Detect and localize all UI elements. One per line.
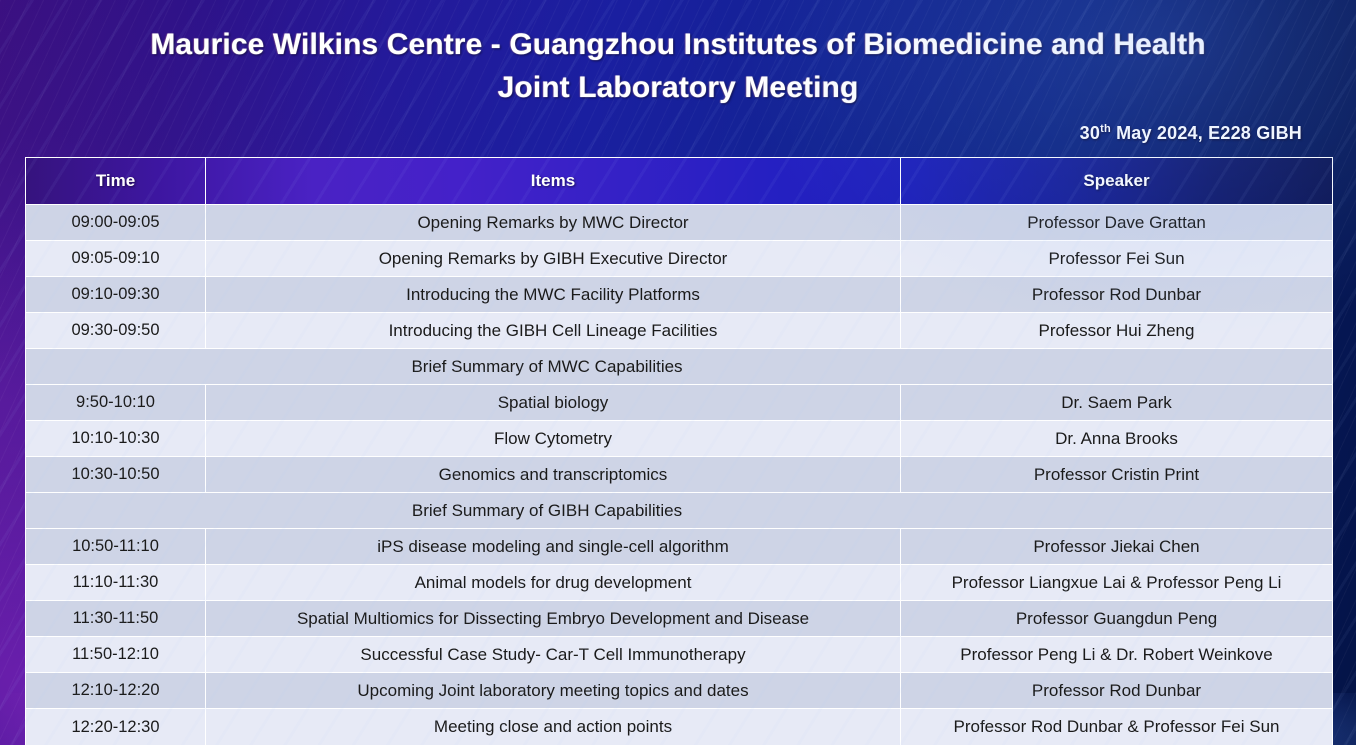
agenda-cell-time: 09:05-09:10	[26, 241, 206, 277]
header-row: Time Items Speaker	[26, 158, 1332, 205]
agenda-cell-speaker: Professor Liangxue Lai & Professor Peng …	[901, 565, 1332, 601]
agenda-cell-time: 09:00-09:05	[26, 205, 206, 241]
agenda-section-label: Brief Summary of MWC Capabilities	[411, 357, 682, 377]
agenda-cell-time: 9:50-10:10	[26, 385, 206, 421]
agenda-row: 11:10-11:30Animal models for drug develo…	[26, 565, 1332, 601]
agenda-row: 9:50-10:10Spatial biologyDr. Saem Park	[26, 385, 1332, 421]
agenda-cell-speaker: Dr. Anna Brooks	[901, 421, 1332, 457]
agenda-cell-items: Introducing the MWC Facility Platforms	[206, 277, 901, 313]
agenda-cell-items: Successful Case Study- Car-T Cell Immuno…	[206, 637, 901, 673]
agenda-row: 10:10-10:30Flow CytometryDr. Anna Brooks	[26, 421, 1332, 457]
agenda-cell-speaker: Professor Guangdun Peng	[901, 601, 1332, 637]
agenda-cell-speaker: Professor Dave Grattan	[901, 205, 1332, 241]
agenda-row: 10:30-10:50Genomics and transcriptomicsP…	[26, 457, 1332, 493]
agenda-cell-speaker: Professor Jiekai Chen	[901, 529, 1332, 565]
date-rest: May 2024, E228 GIBH	[1111, 123, 1302, 143]
slide-header: Maurice Wilkins Centre - Guangzhou Insti…	[0, 0, 1356, 144]
agenda-section-label-cell: Brief Summary of MWC Capabilities	[26, 349, 1332, 385]
agenda-row: 09:00-09:05Opening Remarks by MWC Direct…	[26, 205, 1332, 241]
agenda-cell-speaker: Professor Rod Dunbar & Professor Fei Sun	[901, 709, 1332, 745]
agenda-section-row: Brief Summary of GIBH Capabilities	[26, 493, 1332, 529]
presentation-slide: Maurice Wilkins Centre - Guangzhou Insti…	[0, 0, 1356, 745]
agenda-cell-items: Animal models for drug development	[206, 565, 901, 601]
agenda-cell-items: Opening Remarks by MWC Director	[206, 205, 901, 241]
agenda-cell-speaker: Professor Rod Dunbar	[901, 673, 1332, 709]
agenda-row: 12:10-12:20Upcoming Joint laboratory mee…	[26, 673, 1332, 709]
agenda-row: 11:30-11:50Spatial Multiomics for Dissec…	[26, 601, 1332, 637]
agenda-row: 09:10-09:30Introducing the MWC Facility …	[26, 277, 1332, 313]
column-header-speaker: Speaker	[901, 158, 1332, 205]
agenda-row: 09:05-09:10Opening Remarks by GIBH Execu…	[26, 241, 1332, 277]
agenda-section-label-cell: Brief Summary of GIBH Capabilities	[26, 493, 1332, 529]
agenda-cell-time: 09:10-09:30	[26, 277, 206, 313]
agenda-cell-items: Opening Remarks by GIBH Executive Direct…	[206, 241, 901, 277]
date-day: 30	[1080, 123, 1100, 143]
agenda-cell-time: 12:20-12:30	[26, 709, 206, 745]
agenda-cell-time: 11:30-11:50	[26, 601, 206, 637]
agenda-row: 11:50-12:10Successful Case Study- Car-T …	[26, 637, 1332, 673]
agenda-cell-items: Meeting close and action points	[206, 709, 901, 745]
agenda-cell-speaker: Dr. Saem Park	[901, 385, 1332, 421]
agenda-cell-time: 11:10-11:30	[26, 565, 206, 601]
agenda-cell-speaker: Professor Rod Dunbar	[901, 277, 1332, 313]
slide-title: Maurice Wilkins Centre - Guangzhou Insti…	[28, 24, 1328, 109]
agenda-table: Time Items Speaker 09:00-09:05Opening Re…	[25, 157, 1333, 745]
agenda-table-container: Time Items Speaker 09:00-09:05Opening Re…	[25, 157, 1331, 745]
agenda-row: 12:20-12:30Meeting close and action poin…	[26, 709, 1332, 745]
agenda-section-row: Brief Summary of MWC Capabilities	[26, 349, 1332, 385]
agenda-table-header: Time Items Speaker	[26, 158, 1332, 205]
agenda-cell-items: iPS disease modeling and single-cell alg…	[206, 529, 901, 565]
agenda-row: 10:50-11:10iPS disease modeling and sing…	[26, 529, 1332, 565]
agenda-cell-speaker: Professor Peng Li & Dr. Robert Weinkove	[901, 637, 1332, 673]
agenda-cell-speaker: Professor Cristin Print	[901, 457, 1332, 493]
column-header-items: Items	[206, 158, 901, 205]
agenda-cell-time: 10:10-10:30	[26, 421, 206, 457]
agenda-cell-items: Upcoming Joint laboratory meeting topics…	[206, 673, 901, 709]
agenda-cell-time: 10:50-11:10	[26, 529, 206, 565]
agenda-cell-speaker: Professor Hui Zheng	[901, 313, 1332, 349]
agenda-cell-items: Genomics and transcriptomics	[206, 457, 901, 493]
column-header-time: Time	[26, 158, 206, 205]
date-ordinal-suffix: th	[1100, 123, 1111, 135]
agenda-row: 09:30-09:50Introducing the GIBH Cell Lin…	[26, 313, 1332, 349]
agenda-cell-time: 10:30-10:50	[26, 457, 206, 493]
agenda-section-label: Brief Summary of GIBH Capabilities	[412, 501, 682, 521]
agenda-cell-time: 11:50-12:10	[26, 637, 206, 673]
agenda-cell-items: Introducing the GIBH Cell Lineage Facili…	[206, 313, 901, 349]
agenda-cell-speaker: Professor Fei Sun	[901, 241, 1332, 277]
agenda-table-body: 09:00-09:05Opening Remarks by MWC Direct…	[26, 205, 1332, 745]
agenda-cell-items: Spatial Multiomics for Dissecting Embryo…	[206, 601, 901, 637]
slide-subtitle-date: 30th May 2024, E228 GIBH	[28, 123, 1302, 144]
agenda-cell-items: Flow Cytometry	[206, 421, 901, 457]
agenda-cell-items: Spatial biology	[206, 385, 901, 421]
agenda-cell-time: 09:30-09:50	[26, 313, 206, 349]
agenda-cell-time: 12:10-12:20	[26, 673, 206, 709]
